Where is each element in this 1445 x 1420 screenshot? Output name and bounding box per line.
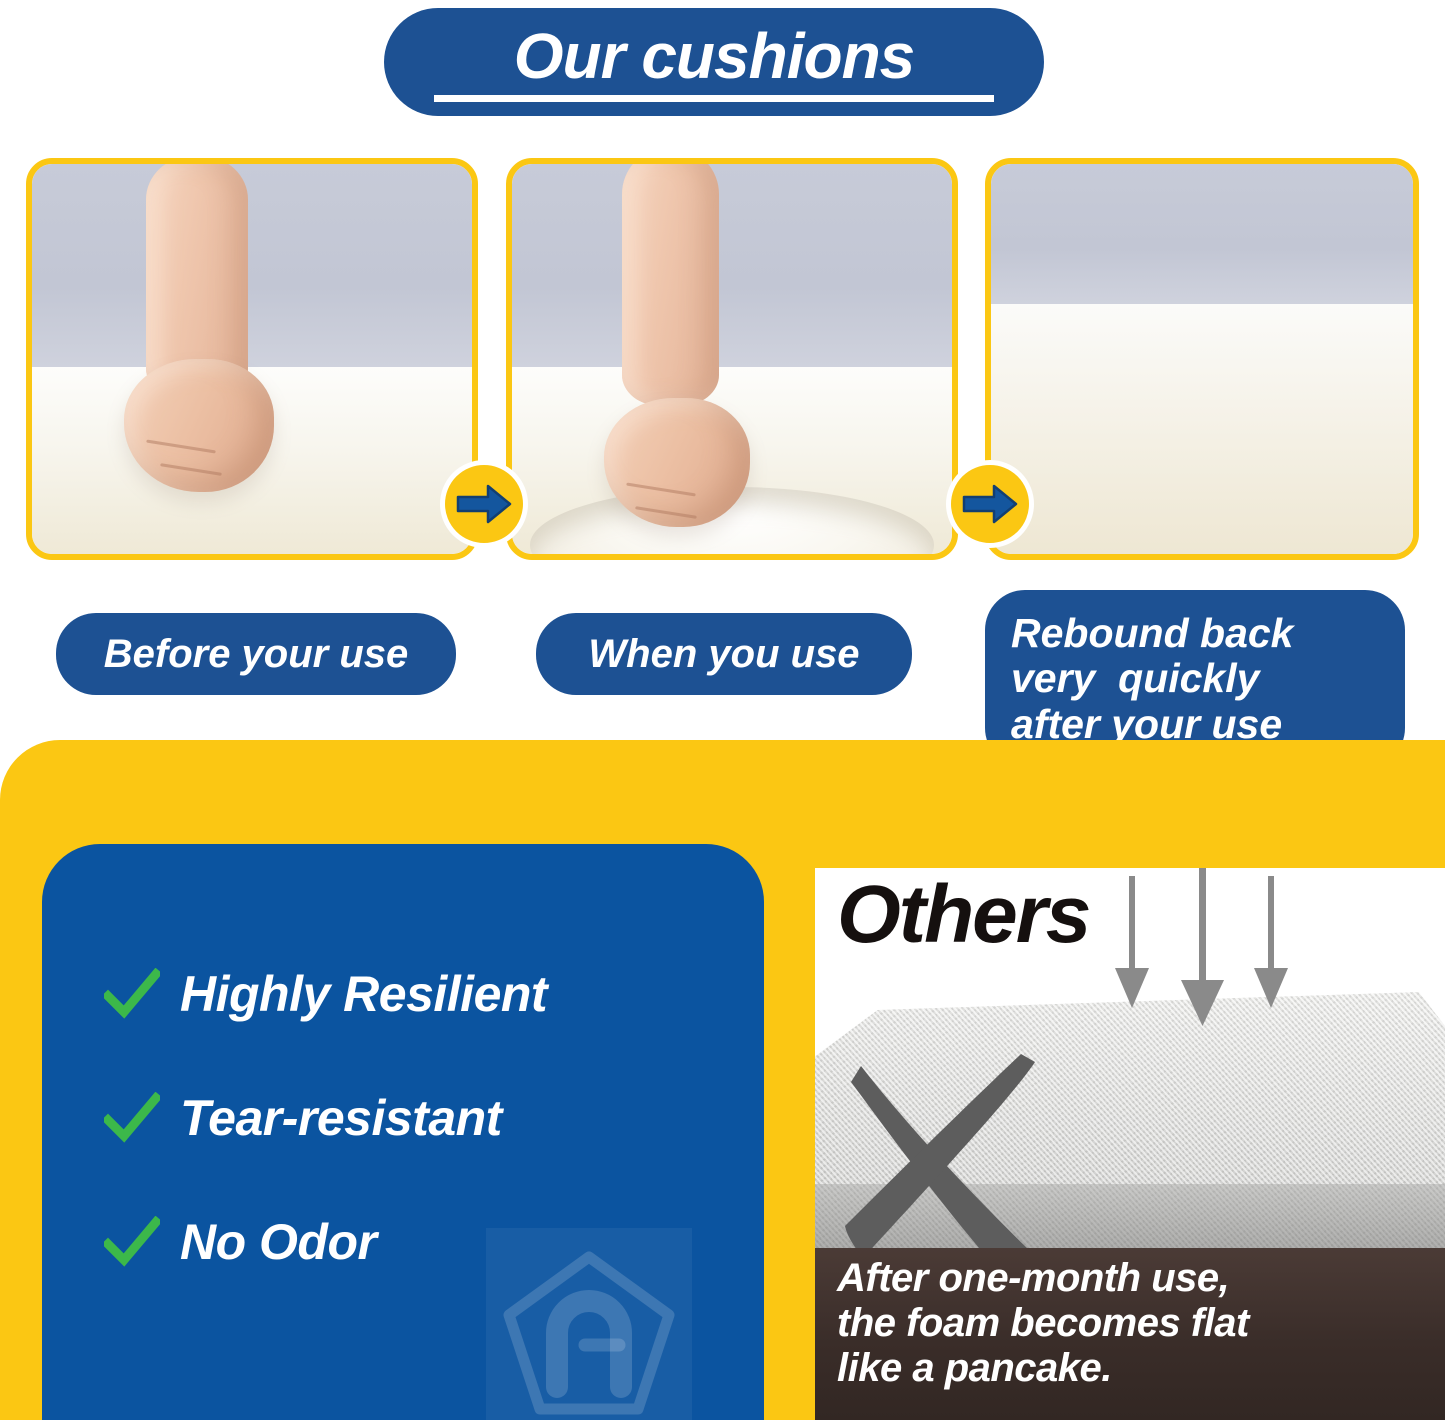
others-caption-line-2: the foam becomes flat xyxy=(837,1301,1249,1346)
others-title: Others xyxy=(837,874,1089,956)
feature-item: Highly Resilient xyxy=(104,932,744,1056)
foam-scene-pressed xyxy=(512,164,952,554)
feature-label: Highly Resilient xyxy=(180,965,547,1023)
step-caption-before: Before your use xyxy=(56,613,456,695)
title-underline xyxy=(434,95,994,102)
forearm-shape xyxy=(622,158,719,406)
green-check-icon xyxy=(104,1092,160,1144)
step-caption-when: When you use xyxy=(536,613,912,695)
green-check-icon xyxy=(104,1216,160,1268)
green-check-icon xyxy=(104,968,160,1020)
background-wall xyxy=(991,164,1413,304)
process-photo-row xyxy=(0,158,1445,560)
process-photo-step-2 xyxy=(506,158,958,560)
step-caption-text: When you use xyxy=(588,632,859,677)
foam-scene-before xyxy=(32,164,472,554)
others-caption-text: After one-month use, the foam becomes fl… xyxy=(837,1256,1249,1390)
others-caption-line-1: After one-month use, xyxy=(837,1256,1249,1301)
foam-scene-rebounded xyxy=(991,164,1413,554)
process-photo-step-3 xyxy=(985,158,1419,560)
pentagon-logo-watermark xyxy=(486,1228,692,1420)
product-infographic: Our cushions xyxy=(0,0,1445,1420)
downward-pressure-arrows-icon xyxy=(1105,868,1305,1028)
others-caption-bar: After one-month use, the foam becomes fl… xyxy=(815,1248,1445,1420)
step-caption-line-2: very quickly xyxy=(1011,656,1405,701)
others-comparison-block: Others xyxy=(815,868,1445,1420)
others-caption-line-3: like a pancake. xyxy=(837,1346,1249,1391)
step-caption-text: Before your use xyxy=(104,632,409,677)
fist-shape xyxy=(604,398,749,527)
features-panel: Highly Resilient Tear-resistant No Odor xyxy=(42,844,764,1420)
feature-label: Tear-resistant xyxy=(180,1089,502,1147)
page-title: Our cushions xyxy=(514,24,915,88)
background-wall xyxy=(512,164,952,367)
title-pill: Our cushions xyxy=(384,8,1044,116)
feature-item: Tear-resistant xyxy=(104,1056,744,1180)
right-arrow-icon xyxy=(440,460,528,548)
step-caption-line-1: Rebound back xyxy=(1011,611,1405,656)
background-wall xyxy=(32,164,472,367)
page-title-banner: Our cushions xyxy=(384,8,1044,116)
process-photo-step-1 xyxy=(26,158,478,560)
right-arrow-icon xyxy=(946,460,1034,548)
feature-label: No Odor xyxy=(180,1213,376,1271)
foam-surface xyxy=(991,304,1413,554)
